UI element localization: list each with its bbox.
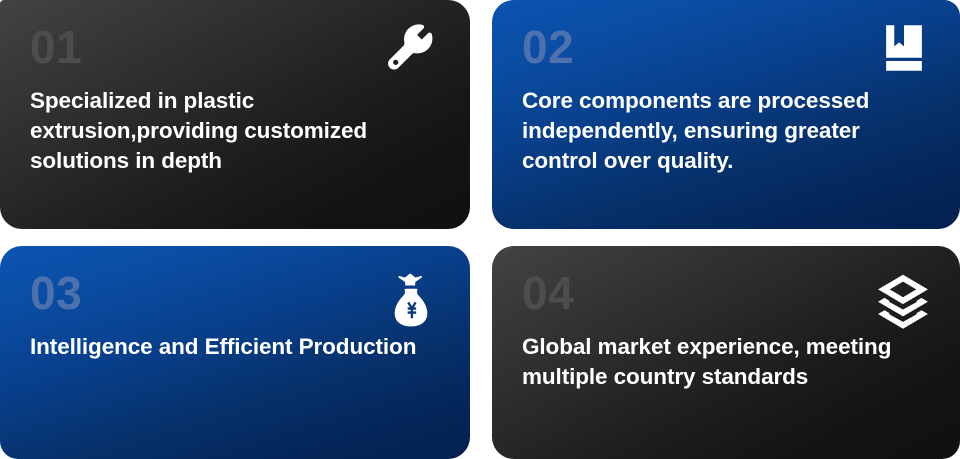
card-number-02: 02 <box>522 24 930 70</box>
feature-card-04[interactable]: 04 Global market experience, meeting mul… <box>492 246 960 459</box>
card-number-03: 03 <box>30 270 440 316</box>
card-number-01: 01 <box>30 24 440 70</box>
feature-card-01[interactable]: 01 Specialized in plastic extrusion,prov… <box>0 0 470 229</box>
card-title-01: Specialized in plastic extrusion,providi… <box>30 86 440 176</box>
feature-card-03[interactable]: 03 Intelligence and Efficient Production <box>0 246 470 459</box>
card-title-03: Intelligence and Efficient Production <box>30 332 440 362</box>
card-number-04: 04 <box>522 270 930 316</box>
card-title-04: Global market experience, meeting multip… <box>522 332 930 392</box>
card-title-02: Core components are processed independen… <box>522 86 930 176</box>
feature-card-02[interactable]: 02 Core components are processed indepen… <box>492 0 960 229</box>
feature-cards-grid: 01 Specialized in plastic extrusion,prov… <box>0 0 960 459</box>
